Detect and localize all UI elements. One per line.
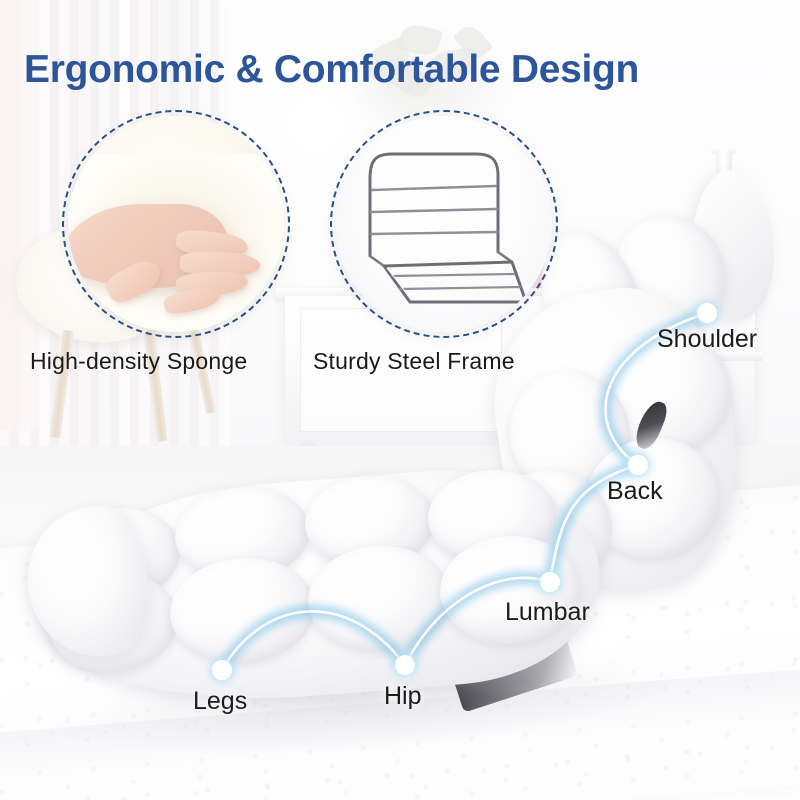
marker-dot-back[interactable] xyxy=(628,455,648,475)
caption-sturdy-steel-frame: Sturdy Steel Frame xyxy=(313,348,515,375)
marker-dot-hip[interactable] xyxy=(395,655,415,675)
marker-dot-legs[interactable] xyxy=(212,660,232,680)
ergonomic-curve-overlay xyxy=(0,0,800,800)
marker-dot-shoulder[interactable] xyxy=(697,303,717,323)
inset-high-density-sponge[interactable] xyxy=(68,116,284,332)
inset-sturdy-steel-frame[interactable] xyxy=(336,116,552,332)
body-point-label-back: Back xyxy=(607,477,663,506)
body-point-label-legs: Legs xyxy=(193,687,247,716)
infographic-canvas: Legs Hip Lumbar Back Shoulder xyxy=(0,0,800,800)
caption-high-density-sponge: High-density Sponge xyxy=(30,348,247,375)
body-point-label-hip: Hip xyxy=(384,682,422,711)
page-title: Ergonomic & Comfortable Design xyxy=(24,48,639,92)
body-point-label-shoulder: Shoulder xyxy=(657,325,757,354)
steel-wire-chair-frame-icon xyxy=(336,116,552,332)
marker-dot-lumbar[interactable] xyxy=(540,572,560,592)
body-point-label-lumbar: Lumbar xyxy=(505,598,590,627)
